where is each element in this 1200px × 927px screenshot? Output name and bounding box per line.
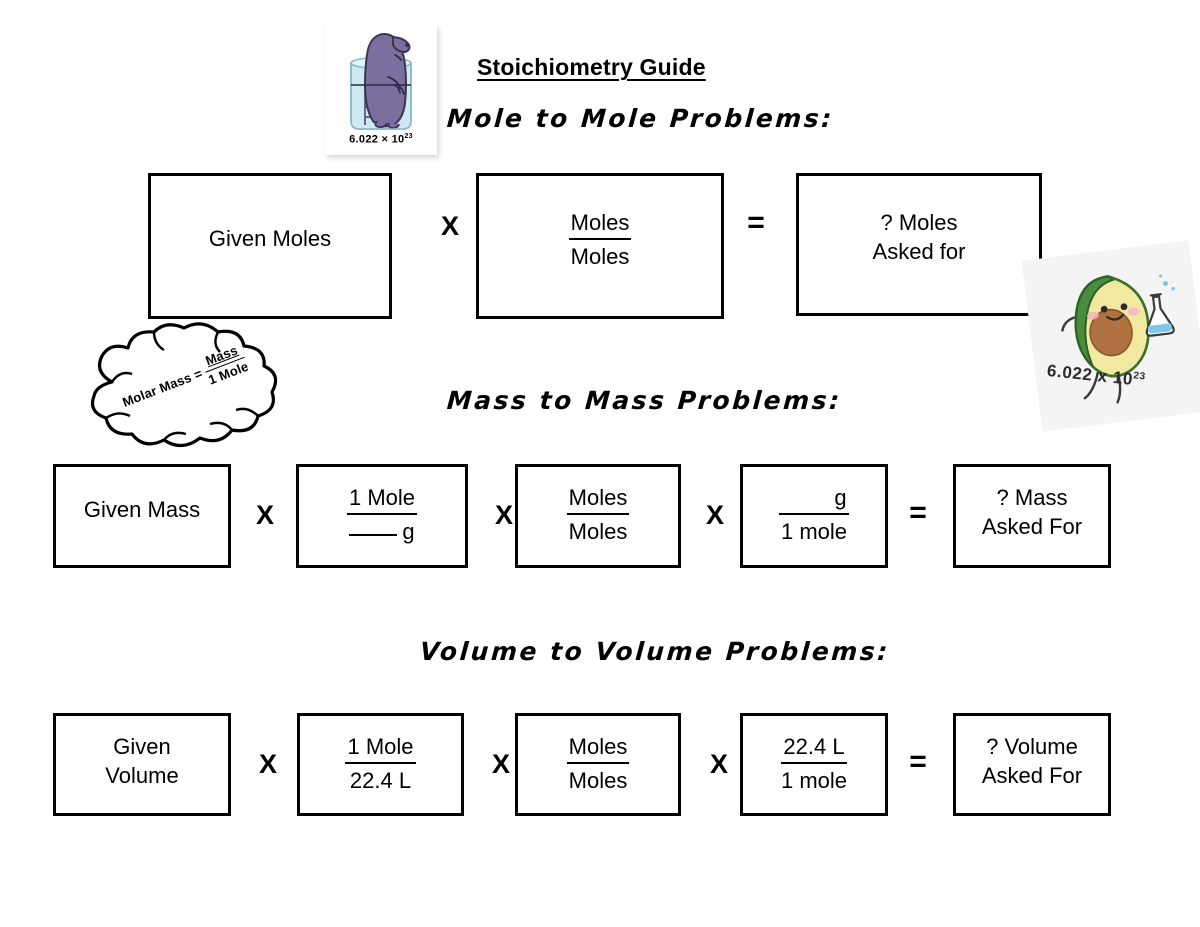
answer-mass-line2: Asked For — [956, 512, 1108, 541]
answer-moles-line1: ? Moles — [799, 208, 1039, 237]
given-mass-label: Given Mass — [84, 497, 200, 522]
given-volume-line2: Volume — [56, 761, 228, 790]
fraction-numerator: 1 Mole — [347, 483, 417, 515]
molar-volume-inverse-box: 1 Mole 22.4 L — [297, 713, 464, 816]
given-volume-box: Given Volume — [53, 713, 231, 816]
moles-ratio-box-r3: Moles Moles — [515, 713, 681, 816]
mole-in-beaker-sticker: 6.022 × 1023 — [325, 25, 437, 155]
one-mole-over-volume-fraction: 1 Mole 22.4 L — [345, 732, 415, 796]
stoichiometry-guide-page: 6.022 × 1023 Stoichiometry Guide Mole to… — [0, 0, 1200, 927]
grams-unit: g — [834, 485, 846, 510]
fraction-numerator: 22.4 L — [781, 732, 847, 764]
blank-grams: g — [349, 517, 414, 546]
avocado-illustration — [1022, 240, 1200, 439]
answer-volume-line2: Asked For — [956, 761, 1108, 790]
answer-mass-box: ? Mass Asked For — [953, 464, 1111, 568]
equals-operator-r2: = — [900, 496, 936, 530]
fraction-denominator: 1 mole — [779, 515, 848, 546]
moles-ratio-box-r1: Moles Moles — [476, 173, 724, 319]
multiply-operator-r2-3: X — [698, 500, 732, 531]
answer-moles-line2: Asked for — [799, 237, 1039, 266]
answer-moles-box: ? Moles Asked for — [796, 173, 1042, 316]
multiply-operator-r3-1: X — [251, 749, 285, 780]
fraction-denominator: 22.4 L — [345, 764, 415, 795]
molar-volume-box: 22.4 L 1 mole — [740, 713, 888, 816]
multiply-operator-r3-2: X — [484, 749, 518, 780]
grams-unit: g — [402, 519, 414, 544]
heading-volume-to-volume: Volume to Volume Problems: — [419, 637, 891, 666]
equals-operator-r3: = — [900, 745, 936, 779]
multiply-operator-r1-1: X — [432, 211, 468, 242]
volume-over-one-mole-fraction: 22.4 L 1 mole — [781, 732, 847, 796]
fraction-denominator: Moles — [569, 240, 632, 271]
multiply-operator-r2-1: X — [248, 500, 282, 531]
molar-mass-thought-cloud: Molar Mass = Mass 1 Mole — [62, 312, 298, 460]
given-moles-label: Given Moles — [209, 226, 331, 251]
mole-caption-exponent: 23 — [404, 133, 412, 140]
fraction-numerator: 1 Mole — [345, 732, 415, 764]
page-title: Stoichiometry Guide — [477, 54, 706, 81]
mole-sticker-caption: 6.022 × 1023 — [325, 133, 437, 146]
given-volume-line1: Given — [56, 732, 228, 761]
fraction-numerator: Moles — [567, 483, 630, 515]
answer-volume-line1: ? Volume — [956, 732, 1108, 761]
fraction-denominator: g — [347, 515, 417, 546]
heading-mole-to-mole: Mole to Mole Problems: — [446, 104, 835, 133]
blank-grams: g — [781, 483, 846, 512]
moles-ratio-box-r2: Moles Moles — [515, 464, 681, 568]
answer-volume-box: ? Volume Asked For — [953, 713, 1111, 816]
fraction-numerator: Moles — [569, 208, 632, 240]
fraction-numerator: Moles — [567, 732, 630, 764]
equals-operator-r1: = — [738, 206, 774, 240]
given-mass-box: Given Mass — [53, 464, 231, 568]
avocado-chemist-sticker: 6.022 x 1023 — [1022, 240, 1200, 439]
answer-mass-line1: ? Mass — [956, 483, 1108, 512]
mole-caption-base: 6.022 × 10 — [349, 134, 404, 146]
molar-mass-inverse-box: 1 Mole g — [296, 464, 468, 568]
given-moles-box: Given Moles — [148, 173, 392, 319]
moles-over-moles-fraction: Moles Moles — [567, 483, 630, 547]
one-mole-over-grams-fraction: 1 Mole g — [347, 483, 417, 547]
molar-mass-box: g 1 mole — [740, 464, 888, 568]
grams-over-one-mole-fraction: g 1 mole — [779, 483, 848, 547]
heading-mass-to-mass: Mass to Mass Problems: — [446, 386, 843, 415]
fraction-denominator: Moles — [567, 764, 630, 795]
fraction-denominator: 1 mole — [781, 764, 847, 795]
multiply-operator-r3-3: X — [702, 749, 736, 780]
moles-over-moles-fraction: Moles Moles — [569, 208, 632, 272]
fraction-numerator: g — [779, 483, 848, 515]
fill-in-blank-rule — [349, 534, 397, 536]
fraction-denominator: Moles — [567, 515, 630, 546]
moles-over-moles-fraction: Moles Moles — [567, 732, 630, 796]
avocado-caption-exponent: 23 — [1133, 370, 1146, 382]
